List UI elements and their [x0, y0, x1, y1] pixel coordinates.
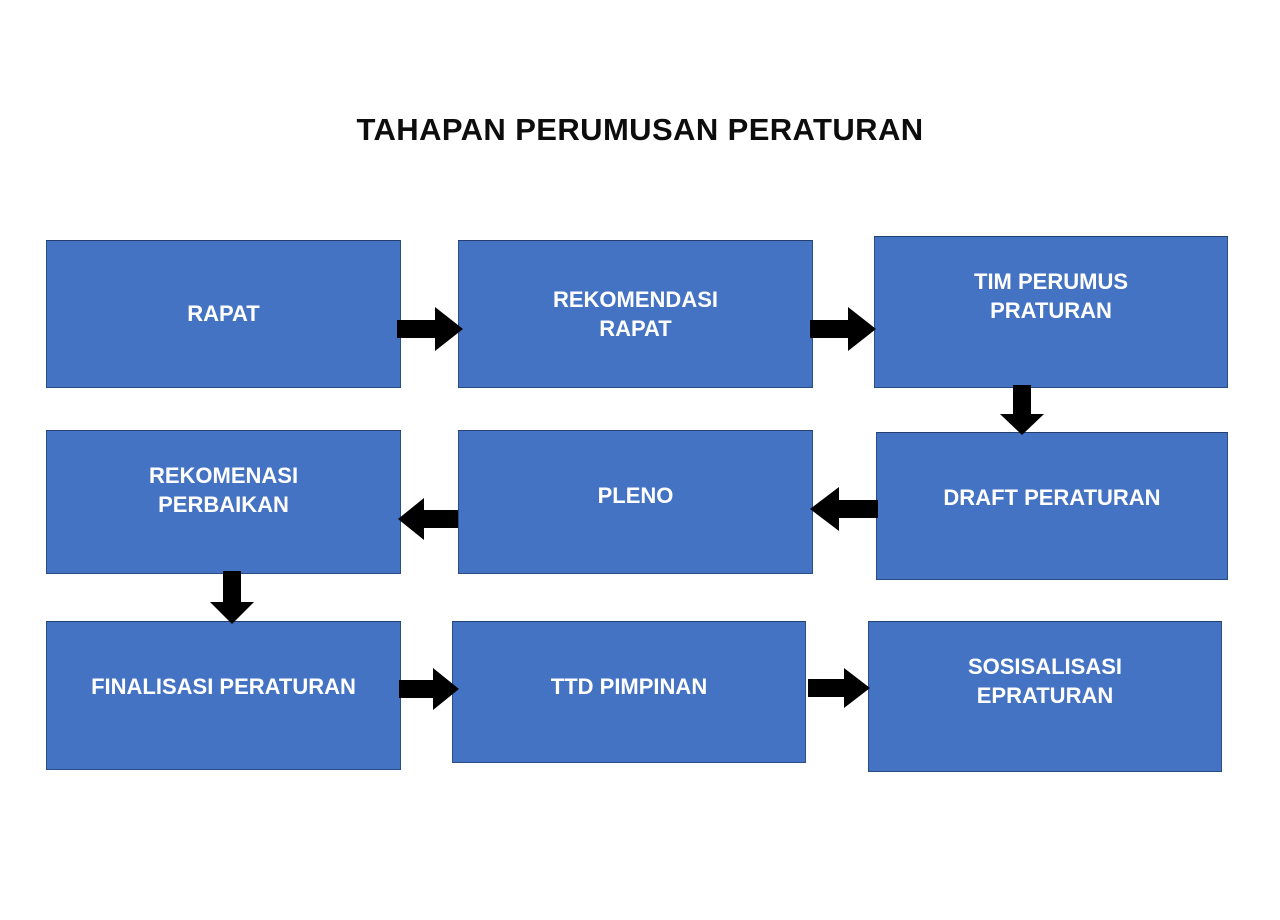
process-node-draft-peraturan[interactable]: DRAFT PERATURAN	[876, 432, 1228, 580]
arrow-left-icon	[810, 487, 878, 531]
process-node-finalisasi-peraturan[interactable]: FINALISASI PERATURAN	[46, 621, 401, 770]
node-label: FINALISASI PERATURAN	[57, 672, 390, 701]
process-node-sosisalisasi-epraturan[interactable]: SOSISALISASI EPRATURAN	[868, 621, 1222, 772]
node-label: PLENO	[469, 481, 802, 510]
process-node-rekomenasi-perbaikan[interactable]: REKOMENASI PERBAIKAN	[46, 430, 401, 574]
node-label: REKOMENASI PERBAIKAN	[57, 461, 390, 519]
arrow-right-icon	[397, 307, 463, 351]
arrow-right-icon	[808, 668, 870, 708]
node-label: RAPAT	[57, 299, 390, 328]
arrow-left-icon	[398, 498, 458, 540]
process-node-rekomendasi-rapat[interactable]: REKOMENDASI RAPAT	[458, 240, 813, 388]
node-label: DRAFT PERATURAN	[887, 483, 1217, 512]
process-node-ttd-pimpinan[interactable]: TTD PIMPINAN	[452, 621, 806, 763]
arrow-right-icon	[399, 668, 459, 710]
arrow-down-icon	[210, 571, 254, 624]
node-label: SOSISALISASI EPRATURAN	[879, 652, 1211, 710]
page-title: TAHAPAN PERUMUSAN PERATURAN	[0, 112, 1280, 148]
node-label: REKOMENDASI RAPAT	[469, 285, 802, 343]
node-label: TTD PIMPINAN	[463, 672, 795, 701]
process-node-rapat[interactable]: RAPAT	[46, 240, 401, 388]
arrow-down-icon	[1000, 385, 1044, 435]
process-node-pleno[interactable]: PLENO	[458, 430, 813, 574]
arrow-right-icon	[810, 307, 876, 351]
node-label: TIM PERUMUS PRATURAN	[885, 267, 1217, 325]
diagram-canvas: TAHAPAN PERUMUSAN PERATURAN RAPAT REKOME…	[0, 0, 1280, 920]
process-node-tim-perumus-praturan[interactable]: TIM PERUMUS PRATURAN	[874, 236, 1228, 388]
